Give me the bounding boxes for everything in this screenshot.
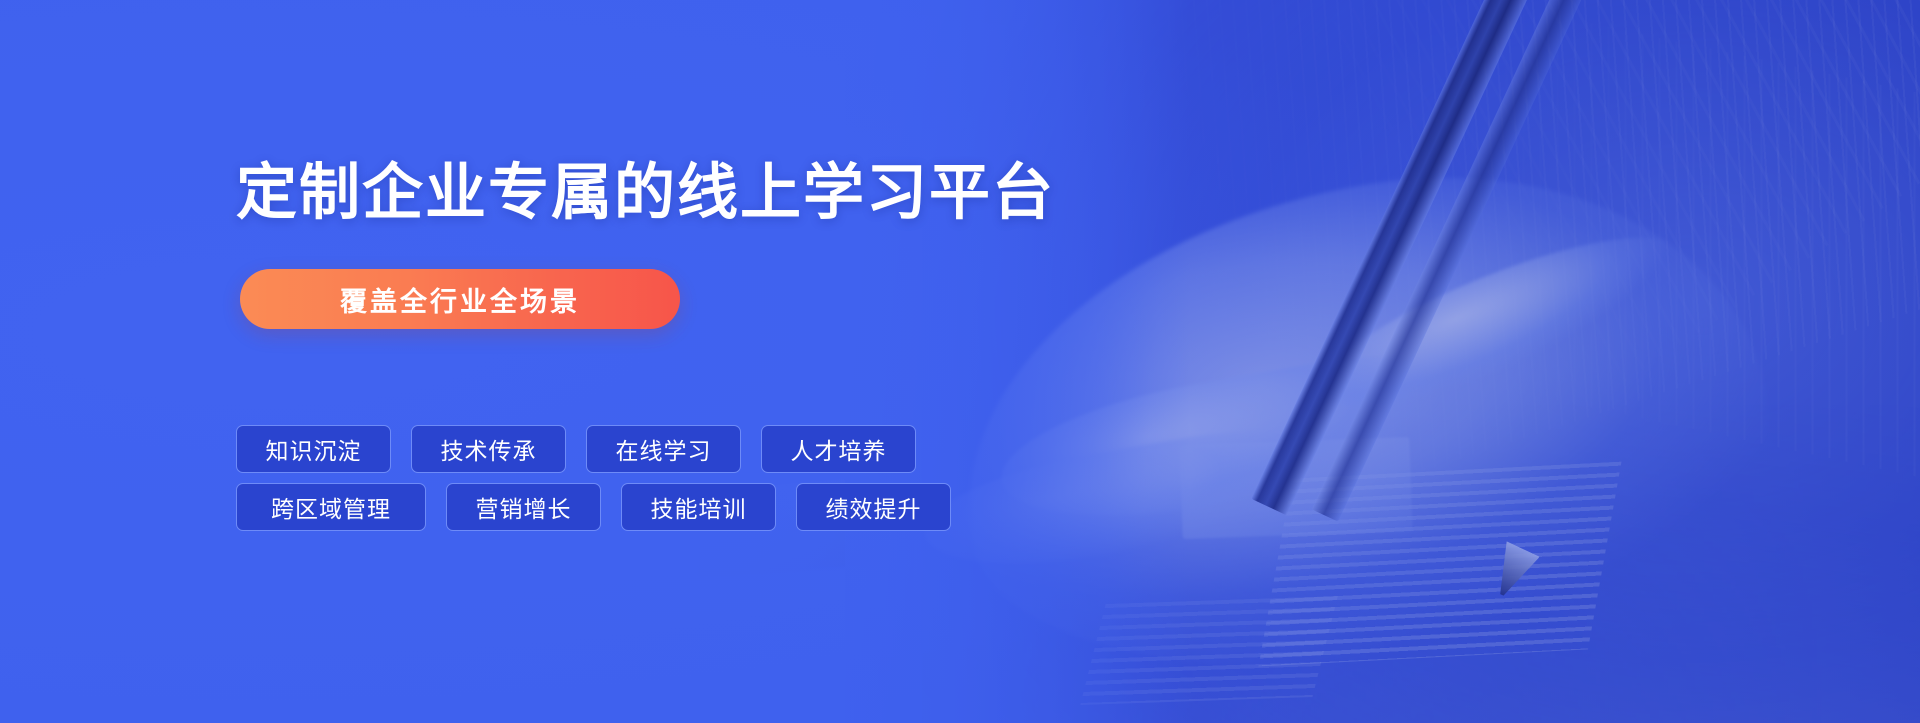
tag-list: 知识沉淀 技术传承 在线学习 人才培养 跨区域管理 营销增长 技能培训 绩效提升 bbox=[236, 425, 951, 531]
tag-row-2: 跨区域管理 营销增长 技能培训 绩效提升 bbox=[236, 483, 951, 531]
banner-content: 定制企业专属的线上学习平台 覆盖全行业全场景 知识沉淀 技术传承 在线学习 人才… bbox=[236, 0, 1136, 723]
tag-skill-training[interactable]: 技能培训 bbox=[621, 483, 776, 531]
page-title: 定制企业专属的线上学习平台 bbox=[236, 162, 1055, 223]
tag-row-1: 知识沉淀 技术传承 在线学习 人才培养 bbox=[236, 425, 951, 473]
tag-marketing-growth[interactable]: 营销增长 bbox=[446, 483, 601, 531]
tag-online-learning[interactable]: 在线学习 bbox=[586, 425, 741, 473]
tag-knowledge-precipitation[interactable]: 知识沉淀 bbox=[236, 425, 391, 473]
coverage-cta-button[interactable]: 覆盖全行业全场景 bbox=[240, 269, 680, 329]
tag-performance-improvement[interactable]: 绩效提升 bbox=[796, 483, 951, 531]
tag-talent-development[interactable]: 人才培养 bbox=[761, 425, 916, 473]
hero-banner: 定制企业专属的线上学习平台 覆盖全行业全场景 知识沉淀 技术传承 在线学习 人才… bbox=[0, 0, 1920, 723]
tag-cross-region-management[interactable]: 跨区域管理 bbox=[236, 483, 426, 531]
tag-technology-inheritance[interactable]: 技术传承 bbox=[411, 425, 566, 473]
